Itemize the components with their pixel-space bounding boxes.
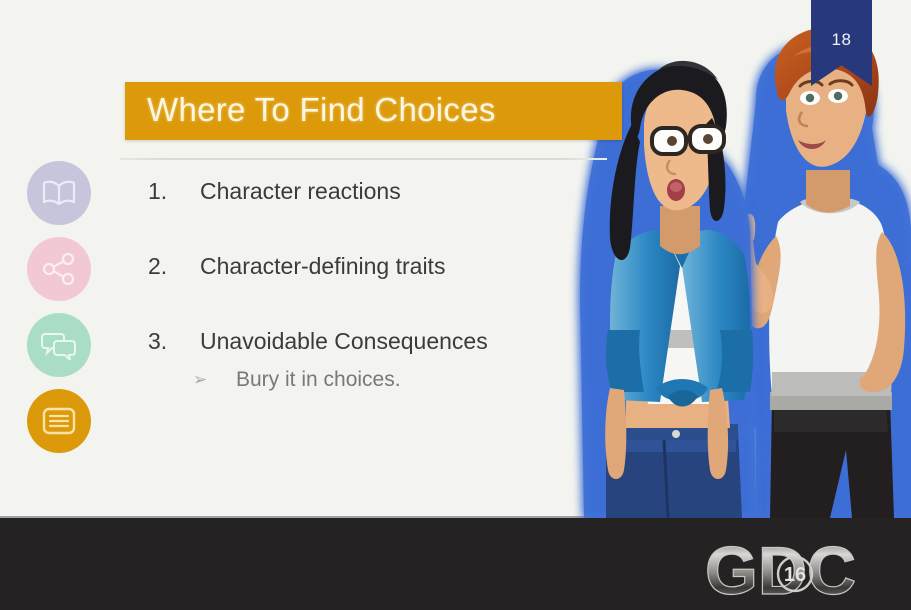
sidebar-item-dialogue[interactable] [27, 313, 91, 377]
share-icon [42, 253, 76, 285]
list-item-label: Character-defining traits [200, 253, 445, 280]
list-item-number: 1. [148, 178, 167, 205]
slide-number: 18 [811, 30, 872, 50]
character-illustration [560, 0, 911, 518]
page-title: Where To Find Choices [147, 91, 496, 129]
list-item-label: Character reactions [200, 178, 401, 205]
list-item: 2. Character-defining traits [148, 253, 578, 328]
sidebar-item-branching[interactable] [27, 237, 91, 301]
book-icon [41, 178, 77, 208]
list-item: 1. Character reactions [148, 178, 578, 253]
sidebar-item-choices[interactable] [27, 389, 91, 453]
gdc-logo: GDC 16 [703, 532, 893, 606]
slide-title-bar: Where To Find Choices [125, 82, 622, 140]
list-item-number: 3. [148, 328, 167, 355]
list-item-number: 2. [148, 253, 167, 280]
gdc-logo-text: GDC [705, 533, 856, 606]
list-item-label: Unavoidable Consequences [200, 328, 488, 355]
section-icon-rail [27, 161, 93, 465]
arrow-bullet-icon: ➢ [193, 370, 207, 390]
footer-bar: GDC 16 [0, 518, 911, 610]
title-divider [120, 158, 607, 160]
sub-list-item-label: Bury it in choices. [236, 368, 401, 392]
list-document-icon [42, 407, 76, 435]
speech-bubbles-icon [41, 330, 77, 360]
sidebar-item-story[interactable] [27, 161, 91, 225]
presentation-slide: Where To Find Choices [0, 0, 911, 610]
gdc-logo-year: 16 [784, 564, 806, 586]
slide-content-area: Where To Find Choices [0, 0, 911, 518]
